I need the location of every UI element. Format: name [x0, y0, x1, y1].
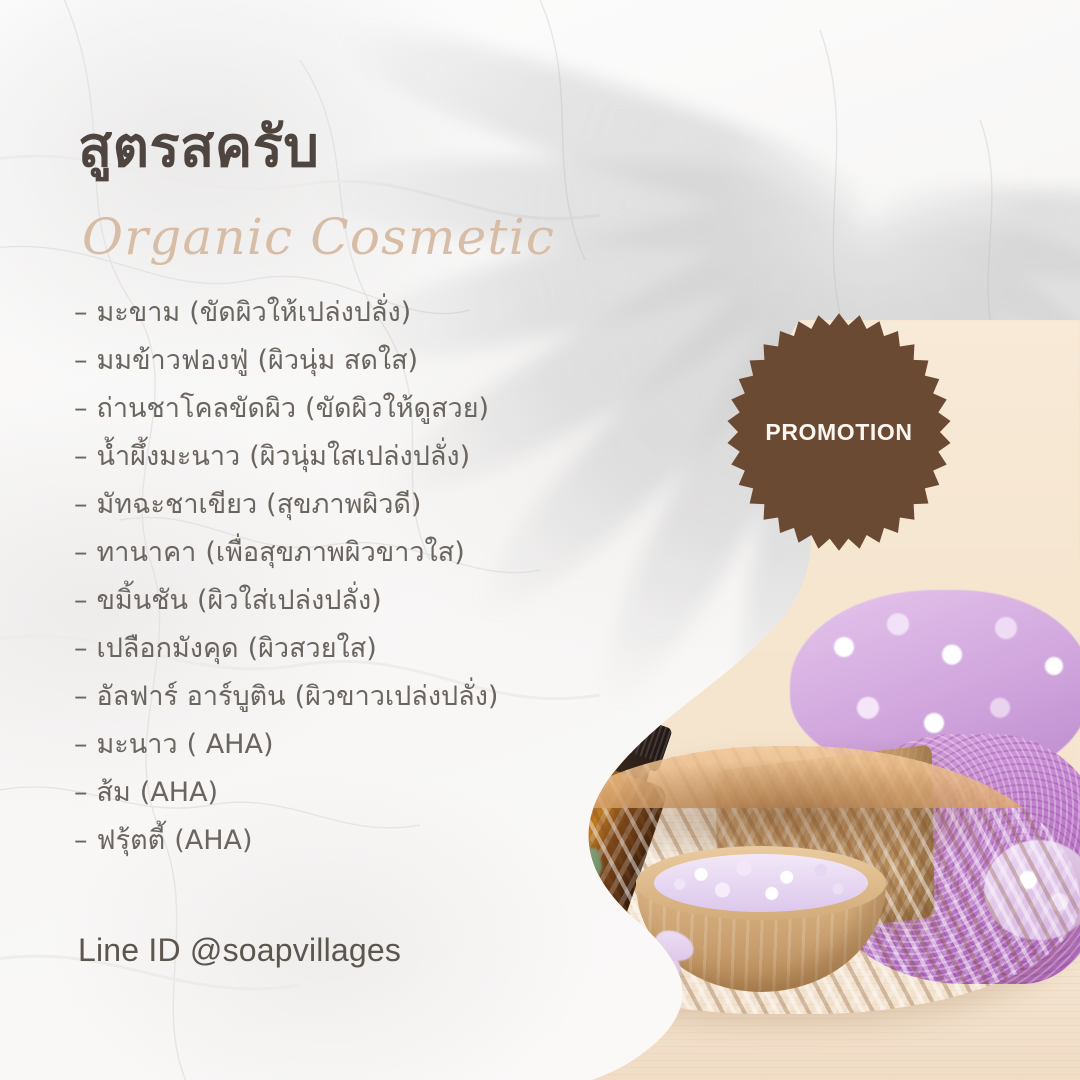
ingredient-benefit: (AHA) [174, 825, 252, 856]
ingredient-benefit: (เพื่อสุขภาพผิวขาวใส) [205, 530, 464, 573]
ingredient-name: ทานาคา [97, 530, 197, 573]
list-item-dash: – [74, 777, 88, 808]
list-item-dash: – [74, 537, 88, 568]
list-item: –ส้ม(AHA) [74, 770, 634, 818]
list-item-dash: – [74, 345, 88, 376]
list-item-dash: – [74, 825, 88, 856]
page-title: สูตรสครับ [78, 116, 319, 181]
list-item: –มะนาว( AHA) [74, 722, 634, 770]
list-item: –เปลือกมังคุด(ผิวสวยใส) [74, 626, 634, 674]
list-item-dash: – [74, 441, 88, 472]
ingredient-benefit: (ผิวนุ่มใสเปล่งปลั่ง) [249, 434, 470, 477]
ingredient-benefit: (ขัดผิวให้ดูสวย) [305, 386, 489, 429]
list-item: –มมข้าวฟองฟู่(ผิวนุ่ม สดใส) [74, 338, 634, 386]
ingredient-benefit: (ผิวสวยใส) [248, 626, 377, 669]
list-item: –อัลฟาร์ อาร์บูติน(ผิวขาวเปล่งปลั่ง) [74, 674, 634, 722]
list-item: –น้ำผึ้งมะนาว(ผิวนุ่มใสเปล่งปลั่ง) [74, 434, 634, 482]
list-item-dash: – [74, 489, 88, 520]
ingredient-name: ถ่านชาโคลขัดผิว [97, 386, 297, 429]
ingredient-list: –มะขาม(ขัดผิวให้เปล่งปลั่ง)–มมข้าวฟองฟู่… [74, 290, 634, 866]
list-item: –มัทฉะชาเขียว(สุขภาพผิวดี) [74, 482, 634, 530]
ingredient-benefit: (ขัดผิวให้เปล่งปลั่ง) [189, 290, 411, 333]
ingredient-name: มะขาม [97, 290, 181, 333]
list-item-dash: – [74, 633, 88, 664]
list-item-dash: – [74, 729, 88, 760]
ingredient-benefit: (สุขภาพผิวดี) [266, 482, 421, 525]
ingredient-benefit: (ผิวใส่เปล่งปลั่ง) [197, 578, 382, 621]
page-subtitle: Organic Cosmetic [82, 212, 555, 262]
line-id-contact: Line ID @soapvillages [78, 932, 401, 969]
list-item-dash: – [74, 585, 88, 616]
ingredient-name: มมข้าวฟองฟู่ [97, 338, 249, 381]
ingredient-name: ขมิ้นชัน [97, 578, 189, 621]
ingredient-name: เปลือกมังคุด [97, 626, 239, 669]
ingredient-benefit: (ผิวขาวเปล่งปลั่ง) [295, 674, 499, 717]
poster-canvas: PROMOTION สูตรสครับ Organic Cosmetic –มะ… [0, 0, 1080, 1080]
list-item: –ทานาคา(เพื่อสุขภาพผิวขาวใส) [74, 530, 634, 578]
ingredient-benefit: (AHA) [140, 777, 218, 808]
list-item: –มะขาม(ขัดผิวให้เปล่งปลั่ง) [74, 290, 634, 338]
list-item: –ถ่านชาโคลขัดผิว(ขัดผิวให้ดูสวย) [74, 386, 634, 434]
list-item: –ขมิ้นชัน(ผิวใส่เปล่งปลั่ง) [74, 578, 634, 626]
ingredient-benefit: (ผิวนุ่ม สดใส) [258, 338, 419, 381]
ingredient-name: น้ำผึ้งมะนาว [97, 434, 241, 477]
list-item: –ฟรุ้ตตี้(AHA) [74, 818, 634, 866]
text-content: สูตรสครับ Organic Cosmetic –มะขาม(ขัดผิว… [0, 0, 1080, 1080]
ingredient-name: มัทฉะชาเขียว [97, 482, 258, 525]
ingredient-name: อัลฟาร์ อาร์บูติน [97, 674, 286, 717]
list-item-dash: – [74, 297, 88, 328]
ingredient-name: มะนาว [97, 722, 178, 765]
list-item-dash: – [74, 681, 88, 712]
ingredient-benefit: ( AHA) [187, 729, 274, 760]
list-item-dash: – [74, 393, 88, 424]
ingredient-name: ฟรุ้ตตี้ [97, 818, 166, 861]
ingredient-name: ส้ม [97, 770, 131, 813]
